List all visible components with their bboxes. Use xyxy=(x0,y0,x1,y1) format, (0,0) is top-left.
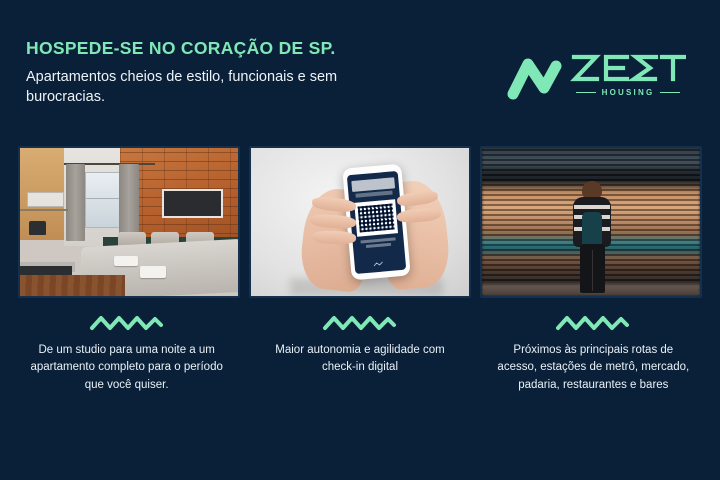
photo-curtain-left xyxy=(66,164,86,241)
zigzag-divider-icon xyxy=(555,314,631,332)
photo-microwave xyxy=(27,192,64,207)
photo-towel xyxy=(114,256,138,266)
zigzag-divider-icon xyxy=(322,314,398,332)
qr-code-pattern xyxy=(358,203,394,232)
photo-leg-gap xyxy=(592,250,593,290)
feature-caption: Próximos às principais rotas de acesso, … xyxy=(495,342,691,394)
photo-screen-title-bar xyxy=(351,177,395,192)
feature-column-studio: De um studio para uma noite a um apartam… xyxy=(10,306,243,436)
feature-caption: De um studio para uma noite a um apartam… xyxy=(29,342,225,394)
feature-caption: Maior autonomia e agilidade com check-in… xyxy=(262,342,458,377)
brand-name-icon xyxy=(570,52,686,86)
photo-curtain-right xyxy=(119,164,139,241)
photo-screen-subtitle-bar xyxy=(355,190,393,198)
promo-poster: HOSPEDE-SE NO CORAÇÃO DE SP. Apartamento… xyxy=(0,0,720,480)
header: HOSPEDE-SE NO CORAÇÃO DE SP. Apartamento… xyxy=(0,0,720,140)
caption-row: De um studio para uma noite a um apartam… xyxy=(0,306,720,436)
qr-code-icon xyxy=(354,199,398,236)
photo-kettle xyxy=(29,221,46,236)
image-card-row xyxy=(0,146,720,306)
headline-block: HOSPEDE-SE NO CORAÇÃO DE SP. Apartamento… xyxy=(26,38,446,108)
brand-logo[interactable]: HOUSING xyxy=(506,52,686,114)
photo-screen-text-line xyxy=(366,243,391,248)
zigzag-arrow-icon xyxy=(506,54,564,106)
photo-window xyxy=(85,172,120,228)
photo-wall-art xyxy=(162,189,223,217)
feature-column-location: Próximos às principais rotas de acesso, … xyxy=(477,306,710,436)
page-subtitle: Apartamentos cheios de estilo, funcionai… xyxy=(26,67,406,108)
brand-tagline: HOUSING xyxy=(602,88,655,97)
brand-tagline-row: HOUSING xyxy=(570,88,686,97)
photo-wood-floor xyxy=(20,275,125,296)
studio-apartment-photo xyxy=(20,148,238,296)
digital-checkin-photo xyxy=(251,148,469,296)
image-card-studio[interactable] xyxy=(18,146,240,298)
zigzag-divider-icon xyxy=(89,314,165,332)
subway-platform-photo xyxy=(482,148,700,296)
photo-person xyxy=(571,181,612,293)
photo-shelf xyxy=(20,209,68,211)
photo-screen-brand-mark xyxy=(372,254,387,263)
feature-column-checkin: Maior autonomia e agilidade com check-in… xyxy=(243,306,476,436)
photo-jacket-stripe xyxy=(574,205,610,209)
brand-wordmark: HOUSING xyxy=(570,52,686,97)
dash-right-icon xyxy=(660,92,680,94)
dash-left-icon xyxy=(576,92,596,94)
image-card-location[interactable] xyxy=(480,146,702,298)
photo-backpack xyxy=(582,212,602,248)
page-title: HOSPEDE-SE NO CORAÇÃO DE SP. xyxy=(26,38,446,60)
photo-towel xyxy=(140,266,166,278)
image-card-checkin[interactable] xyxy=(249,146,471,298)
